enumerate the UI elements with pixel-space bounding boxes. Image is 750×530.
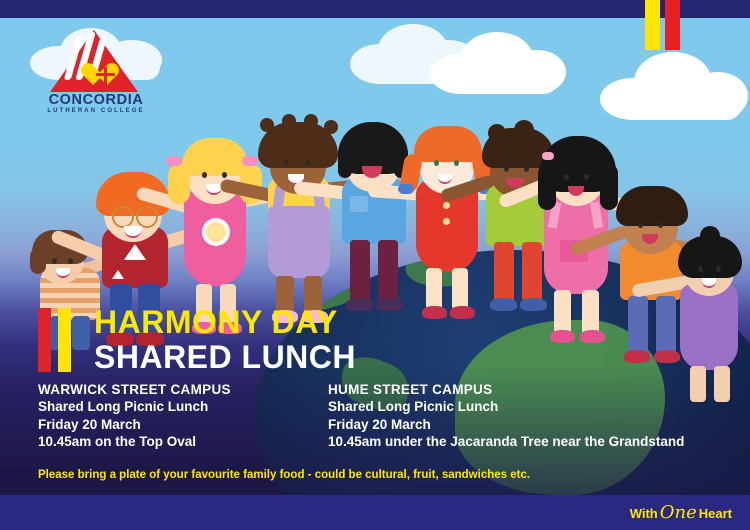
campus-heading: WARWICK STREET CAMPUS: [38, 381, 231, 398]
headline-line-1: HARMONY DAY: [94, 305, 356, 339]
campus-line: Friday 20 March: [328, 416, 684, 434]
cloud-right: [600, 52, 750, 120]
bring-a-plate-note: Please bring a plate of your favourite f…: [38, 469, 530, 481]
headline-line-2: SHARED LUNCH: [94, 340, 356, 374]
campus-line: Shared Long Picnic Lunch: [38, 398, 231, 416]
campus-line: 10.45am on the Top Oval: [38, 433, 231, 451]
cloud-center: [430, 32, 570, 94]
flag-bar-yellow: [645, 0, 660, 50]
cloud-center-left: [350, 24, 480, 84]
tagline-before: With: [630, 506, 658, 521]
campus-column-warwick: WARWICK STREET CAMPUS Shared Long Picnic…: [38, 381, 231, 451]
headline-block: HARMONY DAY SHARED LUNCH: [38, 305, 356, 374]
flag-bar-red: [665, 0, 680, 50]
tagline-after: Heart: [699, 506, 732, 521]
top-navy-band: [0, 0, 750, 18]
campus-line: 10.45am under the Jacaranda Tree near th…: [328, 433, 684, 451]
tagline-script-word: One: [658, 502, 699, 523]
logo-name: CONCORDIA: [36, 92, 156, 108]
concordia-logo: CONCORDIA LUTHERAN COLLEGE: [36, 28, 156, 120]
campus-line: Shared Long Picnic Lunch: [328, 398, 684, 416]
headline-flag-bars: [38, 308, 71, 372]
logo-subtitle: LUTHERAN COLLEGE: [36, 108, 156, 114]
campus-column-hume: HUME STREET CAMPUS Shared Long Picnic Lu…: [328, 381, 684, 451]
campus-line: Friday 20 March: [38, 416, 231, 434]
logo-heart-cross-icon: [93, 64, 119, 88]
harmony-day-poster: CONCORDIA LUTHERAN COLLEGE HARMONY DAY S…: [0, 0, 750, 530]
with-one-heart-tagline: WithOneHeart: [630, 502, 732, 523]
campus-heading: HUME STREET CAMPUS: [328, 381, 684, 398]
